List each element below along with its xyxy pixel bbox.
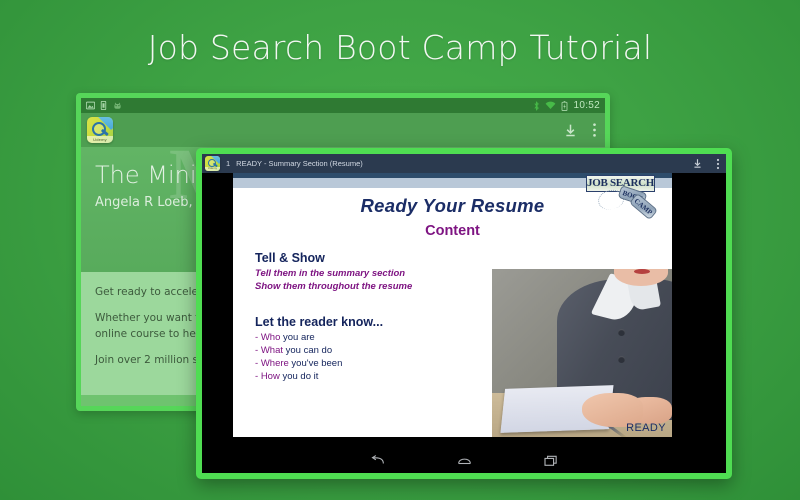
front-tablet-screen: Udemy 1 READY - Summary Section (Resume)…	[202, 154, 726, 473]
bullet-item: - Where you've been	[255, 357, 485, 370]
back-status-left-icons	[86, 101, 123, 110]
bullet-item: - What you can do	[255, 344, 485, 357]
section-1-line: Tell them in the summary section	[255, 267, 485, 280]
udemy-app-icon[interactable]: Udemy	[87, 117, 113, 143]
bullet-rest: you've been	[289, 358, 343, 369]
photo-caption: READY	[626, 422, 666, 434]
screenshot-canvas: Job Search Boot Camp Tutorial 10:52	[0, 0, 800, 500]
bullet-dash: -	[255, 345, 258, 356]
lecture-number: 1	[226, 159, 230, 168]
slide-stage[interactable]: JOB SEARCH BOOT CAMP Ready Your Resume C…	[202, 173, 726, 449]
bluetooth-icon	[533, 101, 540, 111]
udemy-app-icon[interactable]: Udemy	[205, 156, 220, 171]
bullet-dash: -	[255, 371, 258, 382]
bullet-item: - How you do it	[255, 370, 485, 383]
lecture-title-bar: Udemy 1 READY - Summary Section (Resume)	[202, 154, 726, 173]
bullet-rest: you can do	[283, 345, 332, 356]
download-icon[interactable]	[563, 123, 578, 138]
battery-icon	[561, 101, 568, 111]
job-search-boot-camp-logo: JOB SEARCH BOOT CAMP	[586, 175, 666, 223]
recents-icon[interactable]	[544, 455, 558, 467]
android-nav-bar	[202, 449, 726, 473]
bullet-rest: you are	[280, 332, 314, 343]
wifi-icon	[545, 101, 556, 110]
back-icon[interactable]	[370, 455, 385, 467]
sdcard-icon	[100, 101, 107, 110]
section-1-head: Tell & Show	[255, 251, 485, 265]
bullet-keyword: How	[261, 371, 280, 382]
app-icon-brand: Udemy	[87, 136, 113, 143]
slide-text-column: Tell & Show Tell them in the summary sec…	[255, 251, 485, 383]
overflow-menu-icon[interactable]	[716, 158, 720, 170]
overflow-menu-icon[interactable]	[592, 122, 597, 138]
section-2-head: Let the reader know...	[255, 315, 485, 329]
page-title: Job Search Boot Camp Tutorial	[0, 28, 800, 67]
slide-photo: READY	[492, 269, 672, 437]
lecture-title: READY - Summary Section (Resume)	[236, 159, 363, 168]
section-gap	[255, 293, 485, 315]
bullet-dash: -	[255, 358, 258, 369]
presentation-slide: JOB SEARCH BOOT CAMP Ready Your Resume C…	[233, 173, 672, 437]
back-action-bar: Udemy	[81, 113, 605, 147]
section-1-line: Show them throughout the resume	[255, 280, 485, 293]
bullet-keyword: Who	[261, 332, 281, 343]
back-status-right-icons: 10:52	[533, 100, 600, 111]
bullet-keyword: Where	[261, 358, 289, 369]
front-tablet-device: Udemy 1 READY - Summary Section (Resume)…	[196, 148, 732, 479]
download-icon[interactable]	[692, 158, 703, 169]
bullet-rest: you do it	[280, 371, 319, 382]
bullet-keyword: What	[261, 345, 283, 356]
home-icon[interactable]	[457, 455, 472, 467]
bullet-dash: -	[255, 332, 258, 343]
back-status-bar: 10:52	[81, 98, 605, 113]
android-robot-icon	[112, 102, 123, 110]
app-icon-brand: Udemy	[205, 167, 220, 171]
bullet-item: - Who you are	[255, 331, 485, 344]
screenshot-icon	[86, 101, 95, 110]
back-status-clock: 10:52	[573, 100, 600, 111]
slide-subheading: Content	[233, 223, 672, 239]
